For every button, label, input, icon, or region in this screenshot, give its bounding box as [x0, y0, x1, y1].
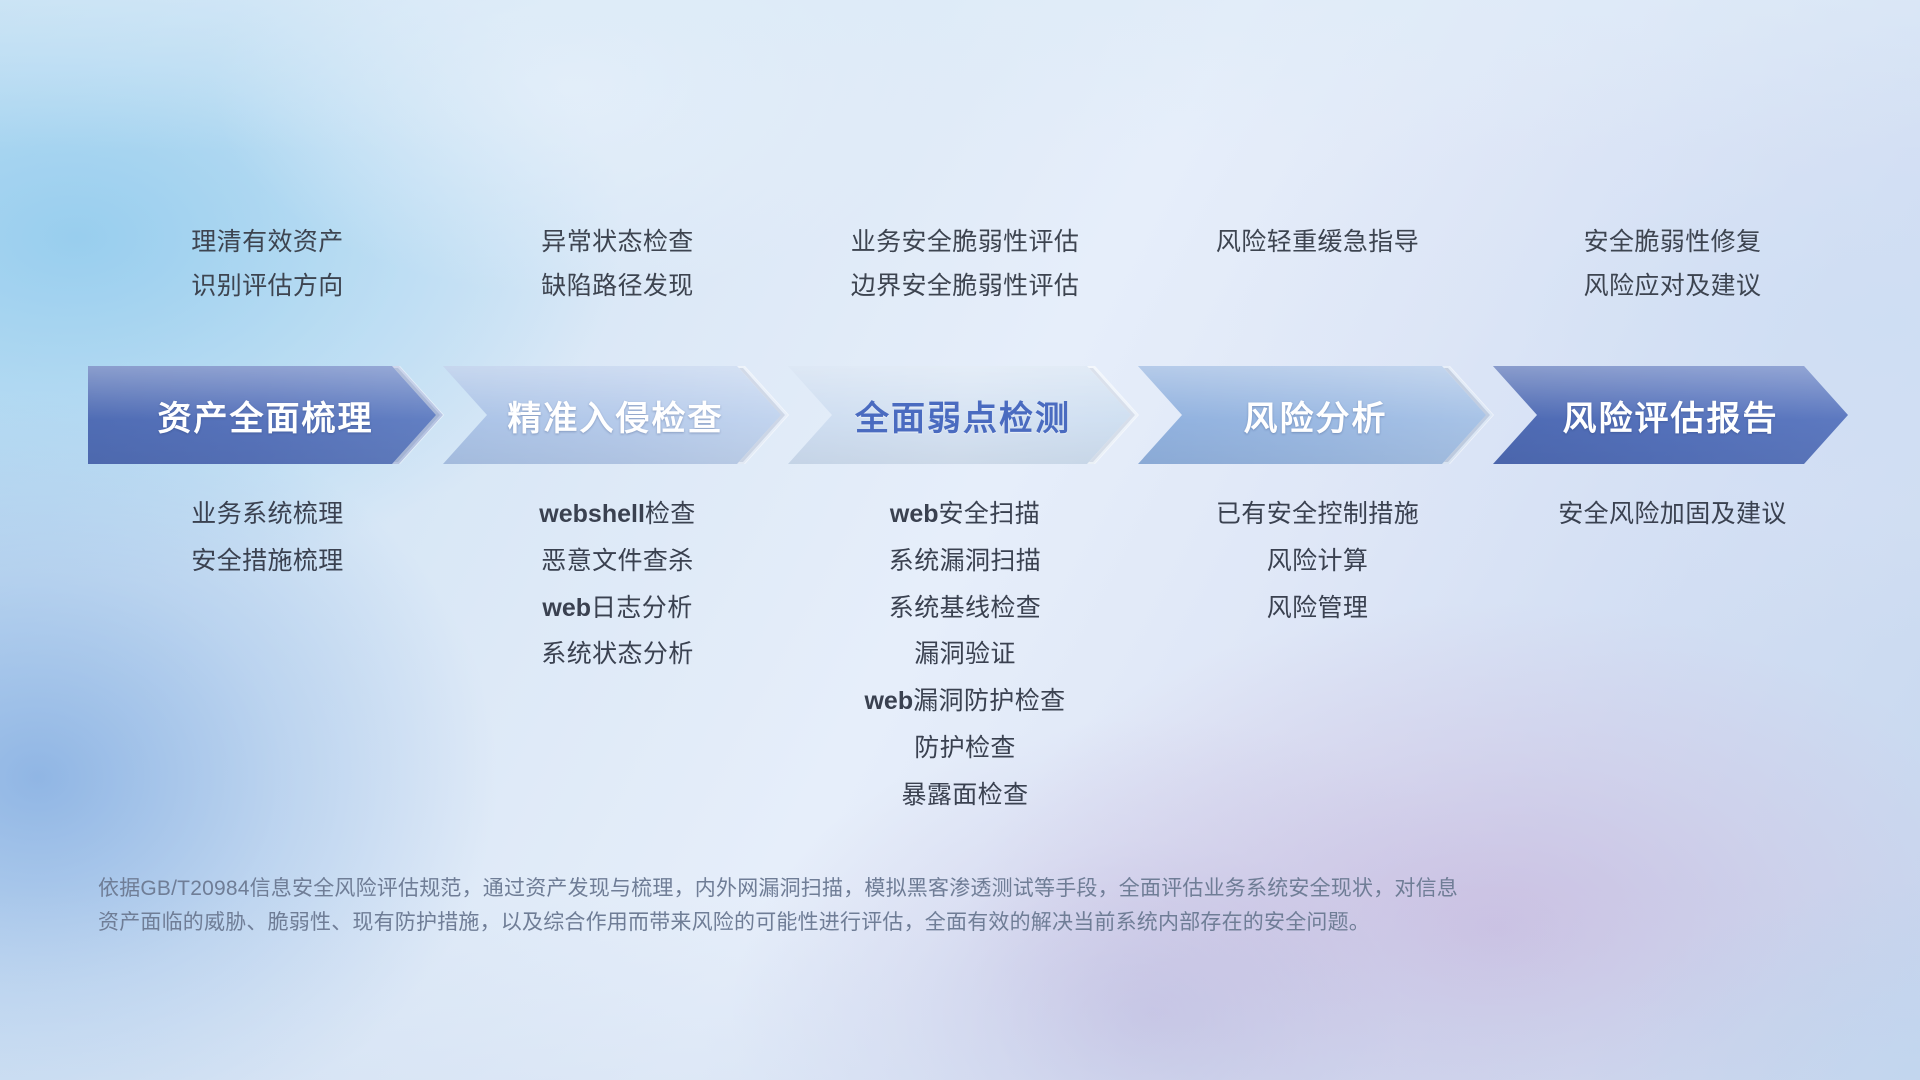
chevron-step-assessment-report[interactable]: 风险评估报告 [1493, 366, 1848, 464]
detail-item-text: 日志分析 [591, 594, 693, 622]
detail-item-prefix: web [890, 500, 939, 528]
detail-item: 风险管理 [1267, 594, 1369, 623]
detail-item: 漏洞验证 [914, 640, 1016, 669]
caption-col-risk-analysis: 风险轻重缓急指导 [1140, 228, 1495, 258]
chevron-step-asset-inventory[interactable]: 资产全面梳理 [88, 366, 443, 464]
caption-col-assessment-report: 安全脆弱性修复 风险应对及建议 [1495, 228, 1850, 301]
caption-line: 识别评估方向 [191, 272, 343, 302]
detail-col-assessment-report: 安全风险加固及建议 [1495, 500, 1850, 529]
detail-item-prefix: web [542, 594, 591, 622]
footer-line: 资产面临的威胁、脆弱性、现有防护措施，以及综合作用而带来风险的可能性进行评估，全… [98, 906, 1618, 940]
detail-item: webshell检查 [539, 500, 695, 529]
caption-line: 理清有效资产 [191, 228, 343, 258]
detail-col-risk-analysis: 已有安全控制措施 风险计算 风险管理 [1140, 500, 1495, 622]
detail-item: 恶意文件查杀 [541, 547, 693, 576]
detail-item: 安全措施梳理 [191, 547, 343, 576]
chevron-step-intrusion-check[interactable]: 精准入侵检查 [443, 366, 788, 464]
detail-item: web漏洞防护检查 [864, 687, 1065, 716]
detail-item: web安全扫描 [890, 500, 1040, 529]
chevron-step-label: 全面弱点检测 [855, 391, 1071, 440]
detail-item: 防护检查 [914, 734, 1016, 763]
detail-list-row: 业务系统梳理 安全措施梳理 webshell检查 恶意文件查杀 web日志分析 … [90, 500, 1850, 809]
detail-item-text: 漏洞防护检查 [913, 687, 1065, 715]
detail-col-weakness-detection: web安全扫描 系统漏洞扫描 系统基线检查 漏洞验证 web漏洞防护检查 防护检… [790, 500, 1140, 809]
caption-col-intrusion-check: 异常状态检查 缺陷路径发现 [445, 228, 790, 301]
caption-col-asset-inventory: 理清有效资产 识别评估方向 [90, 228, 445, 301]
top-caption-row: 理清有效资产 识别评估方向 异常状态检查 缺陷路径发现 业务安全脆弱性评估 边界… [90, 228, 1850, 301]
detail-item: 风险计算 [1267, 547, 1369, 576]
detail-item: 业务系统梳理 [191, 500, 343, 529]
footer-description: 依据GB/T20984信息安全风险评估规范，通过资产发现与梳理，内外网漏洞扫描，… [98, 872, 1618, 940]
chevron-step-label: 资产全面梳理 [158, 391, 374, 440]
detail-item-prefix: web [864, 687, 913, 715]
chevron-step-risk-analysis[interactable]: 风险分析 [1138, 366, 1493, 464]
detail-item-text: 检查 [645, 500, 696, 528]
chevron-step-label: 风险评估报告 [1563, 391, 1779, 440]
caption-col-weakness-detection: 业务安全脆弱性评估 边界安全脆弱性评估 [790, 228, 1140, 301]
process-chevron-band: 资产全面梳理 精准入侵检查 全面弱点检测 [88, 366, 1850, 464]
detail-item: 系统基线检查 [889, 594, 1041, 623]
detail-item: 已有安全控制措施 [1216, 500, 1419, 529]
detail-item: 系统漏洞扫描 [889, 547, 1041, 576]
caption-line: 风险轻重缓急指导 [1216, 228, 1419, 258]
detail-item: 系统状态分析 [541, 640, 693, 669]
caption-line: 安全脆弱性修复 [1584, 228, 1762, 258]
detail-item: 暴露面检查 [901, 781, 1028, 810]
detail-item: web日志分析 [542, 594, 692, 623]
detail-col-asset-inventory: 业务系统梳理 安全措施梳理 [90, 500, 445, 576]
caption-line: 风险应对及建议 [1584, 272, 1762, 302]
chevron-step-label: 风险分析 [1244, 391, 1388, 440]
footer-line: 依据GB/T20984信息安全风险评估规范，通过资产发现与梳理，内外网漏洞扫描，… [98, 872, 1618, 906]
caption-line: 异常状态检查 [541, 228, 693, 258]
detail-item: 安全风险加固及建议 [1558, 500, 1787, 529]
chevron-step-label: 精准入侵检查 [508, 391, 724, 440]
detail-item-text: 安全扫描 [939, 500, 1041, 528]
chevron-step-weakness-detection[interactable]: 全面弱点检测 [788, 366, 1138, 464]
caption-line: 缺陷路径发现 [541, 272, 693, 302]
detail-item-prefix: webshell [539, 500, 645, 528]
detail-col-intrusion-check: webshell检查 恶意文件查杀 web日志分析 系统状态分析 [445, 500, 790, 669]
slide-canvas: 理清有效资产 识别评估方向 异常状态检查 缺陷路径发现 业务安全脆弱性评估 边界… [0, 0, 1920, 1080]
caption-line: 业务安全脆弱性评估 [851, 228, 1080, 258]
caption-line: 边界安全脆弱性评估 [851, 272, 1080, 302]
